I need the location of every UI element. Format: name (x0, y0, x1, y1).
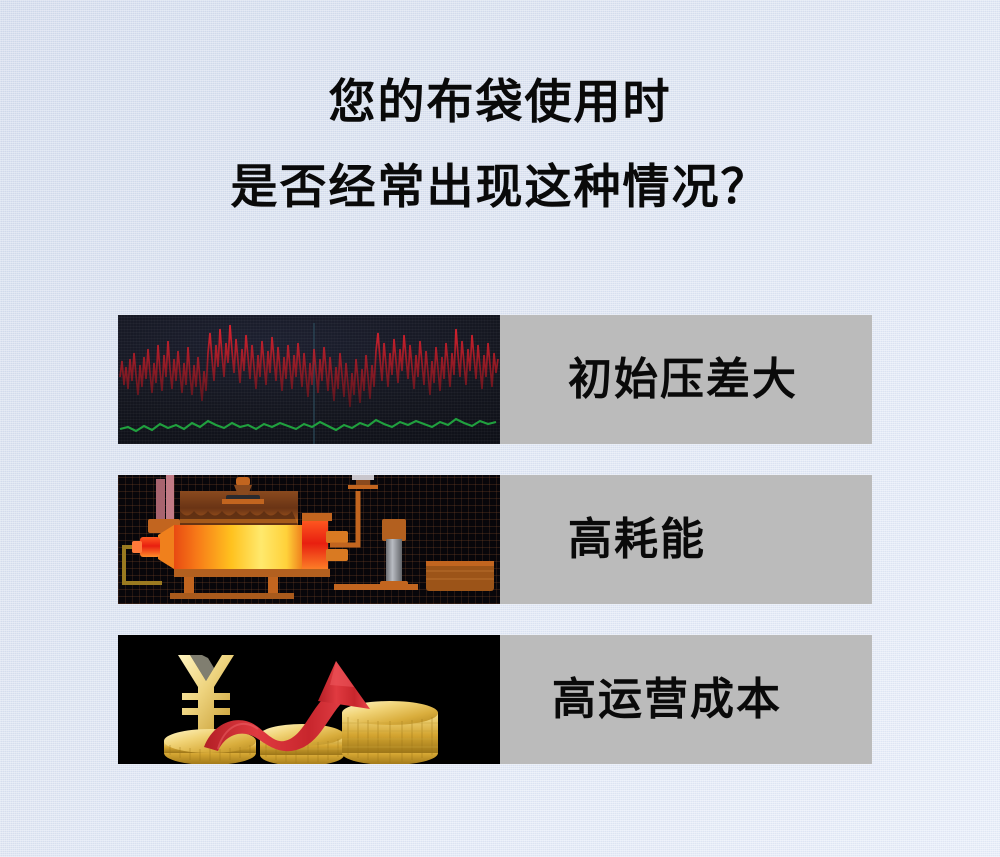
label-panel: 高耗能 (500, 475, 872, 604)
label-panel: 高运营成本 (500, 635, 872, 764)
page-title: 您的布袋使用时 是否经常出现这种情况？ (0, 78, 1000, 210)
boiler-illustration (118, 475, 500, 604)
problem-list: 初始压差大 (118, 315, 872, 764)
list-item: 高耗能 (118, 475, 872, 604)
boiler-column (386, 539, 402, 585)
chart-series-red (120, 325, 498, 407)
headline-line-2: 是否经常出现这种情况？ (0, 163, 1000, 210)
problem-label: 初始压差大 (500, 358, 798, 402)
coins-illustration (118, 635, 500, 764)
boiler-column-head (382, 519, 406, 541)
problem-label: 高运营成本 (500, 678, 782, 722)
problem-label: 高耗能 (500, 518, 706, 562)
boiler-hot-body (174, 525, 302, 569)
chart-series-group (118, 315, 500, 444)
rising-cost-coins (118, 635, 500, 764)
label-panel: 初始压差大 (500, 315, 872, 444)
chart-series-green (120, 419, 496, 431)
industrial-boiler-furnace (118, 475, 500, 604)
coin-stack-large (342, 701, 438, 764)
list-item: 高运营成本 (118, 635, 872, 764)
headline-line-1: 您的布袋使用时 (0, 78, 1000, 125)
list-item: 初始压差大 (118, 315, 872, 444)
poster-root: 您的布袋使用时 是否经常出现这种情况？ (0, 0, 1000, 857)
pressure-differential-chart (118, 315, 500, 444)
boiler-end-cap (302, 519, 328, 573)
boiler-burner (140, 537, 160, 557)
